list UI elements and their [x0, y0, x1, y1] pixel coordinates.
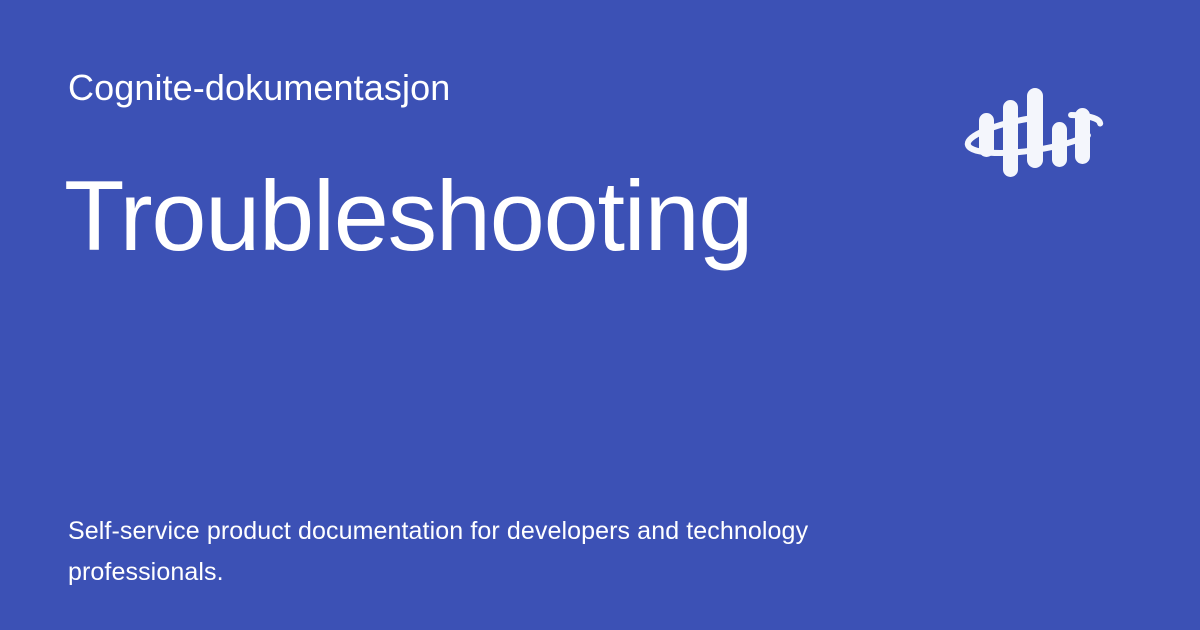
- page-title: Troubleshooting: [64, 157, 752, 275]
- cognite-logo: [955, 80, 1120, 180]
- eyebrow-label: Cognite-dokumentasjon: [68, 66, 450, 110]
- og-banner-card: Cognite-dokumentasjon Troubleshooting Se…: [0, 0, 1200, 630]
- subtitle-text: Self-service product documentation for d…: [68, 511, 868, 593]
- logo-bar-3: [1027, 88, 1043, 168]
- logo-bar-2: [1003, 100, 1018, 177]
